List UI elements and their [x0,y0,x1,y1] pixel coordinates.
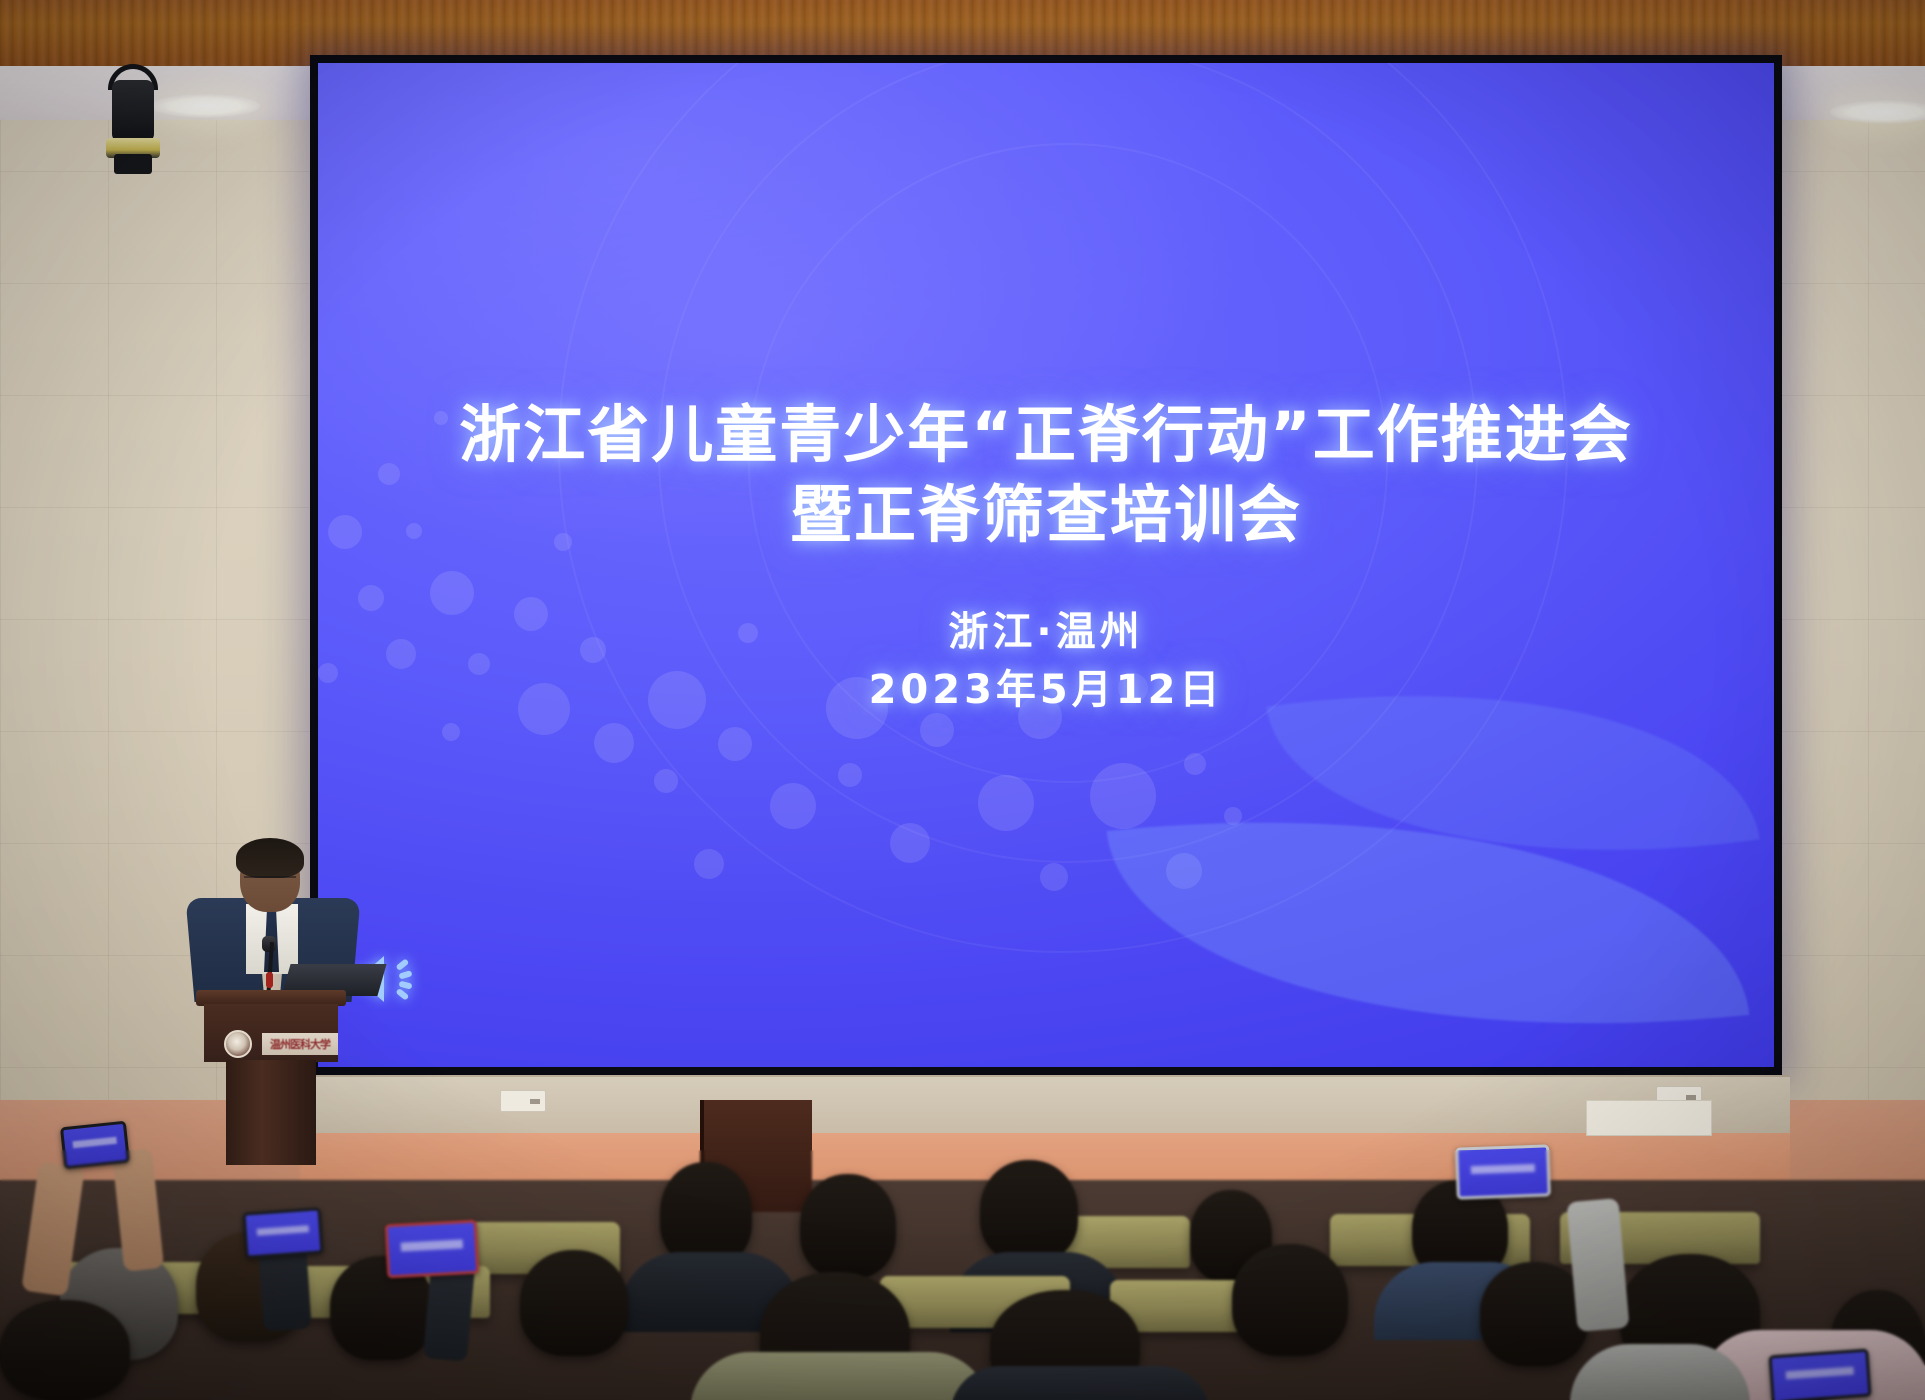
decorative-dot [978,775,1034,831]
eyeglasses [244,876,296,888]
audience-head [660,1162,752,1266]
phone-screen [388,1223,476,1275]
slide-surface: 浙江省儿童青少年“正脊行动”工作推进会 暨正脊筛查培训会 浙江·温州 2023年… [318,63,1774,1067]
audience-head [980,1160,1078,1262]
lectern-podium: 温州医科大学 [196,990,346,1165]
conference-photo: 浙江省儿童青少年“正脊行动”工作推进会 暨正脊筛查培训会 浙江·温州 2023年… [0,0,1925,1400]
podium-front-panel: 温州医科大学 [204,1004,338,1062]
decorative-dot [442,723,460,741]
decorative-dot [890,823,930,863]
slide-subtitle: 浙江·温州 2023年5月12日 [318,603,1774,719]
slide-title-line1: 浙江省儿童青少年“正脊行动”工作推进会 [318,395,1774,475]
audience-phone[interactable] [1768,1349,1871,1400]
decorative-dot [1090,763,1156,829]
audience-phone[interactable] [60,1121,130,1170]
slide-title-line2: 暨正脊筛查培训会 [318,475,1774,555]
decorative-dot [770,783,816,829]
podium-plaque-text: 温州医科大学 [270,1036,330,1052]
audience-head [800,1174,896,1278]
presenter-person [180,832,370,1007]
audience-phone[interactable] [1455,1144,1551,1199]
audience-head [0,1300,130,1400]
phone-screen [246,1211,321,1256]
audience-phone[interactable] [385,1220,480,1279]
decorative-dot [694,849,724,879]
audience-shoulders [690,1352,990,1400]
microphone-body [266,972,273,988]
led-display-screen: 浙江省儿童青少年“正脊行动”工作推进会 暨正脊筛查培训会 浙江·温州 2023年… [310,55,1782,1075]
decorative-dot [594,723,634,763]
decorative-dot [1184,753,1206,775]
decorative-dot [1040,863,1068,891]
podium-base [226,1060,316,1165]
slide-date: 2023年5月12日 [318,661,1774,719]
podium-plaque: 温州医科大学 [262,1033,338,1055]
phone-screen [63,1124,126,1166]
wall-notice [1586,1100,1712,1136]
phone-screen [1458,1147,1548,1196]
spotlight-base [114,154,152,174]
decorative-dot [654,769,678,793]
wall-right [1760,120,1925,1180]
phone-screen [1772,1352,1869,1400]
spotlight-body [112,80,154,142]
decorative-dot [718,727,752,761]
audience-shoulders [950,1366,1210,1400]
audience-phone[interactable] [242,1207,323,1258]
audience-head [520,1250,628,1356]
slide-location: 浙江·温州 [318,603,1774,661]
audience-head [1480,1262,1588,1366]
audience-head [1232,1244,1348,1356]
slide-title: 浙江省儿童青少年“正脊行动”工作推进会 暨正脊筛查培训会 [318,395,1774,555]
presenter-hair [236,838,304,878]
decorative-dot [838,763,862,787]
spotlight [98,64,168,174]
university-seal-emblem [224,1030,252,1058]
wall-socket [500,1090,546,1112]
